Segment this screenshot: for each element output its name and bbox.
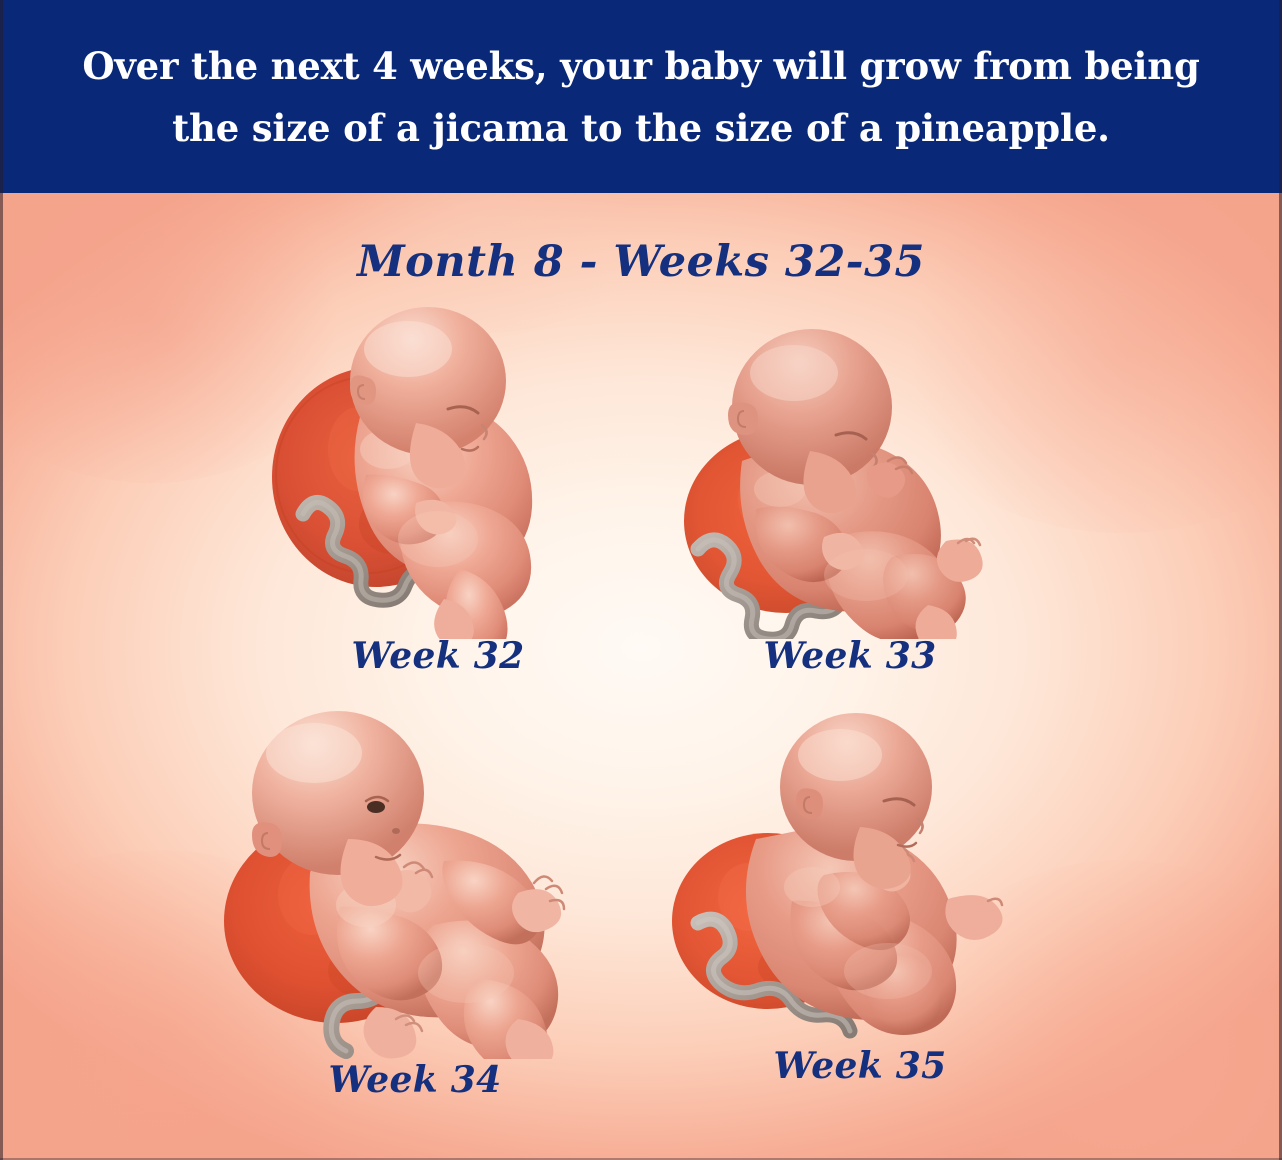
fetus-week-34-illustration xyxy=(200,689,630,1059)
illustration-wrapper: Week 32 xyxy=(248,299,628,749)
fetus-week-33-illustration xyxy=(660,299,1040,639)
infographic-page: Over the next 4 weeks, your baby will gr… xyxy=(0,0,1282,1160)
week-card-33: Week 33 xyxy=(660,299,1040,749)
left-edge-border xyxy=(0,0,3,1160)
fetus-week-32-illustration xyxy=(248,299,628,639)
week-card-34: Week 34 xyxy=(200,689,630,1159)
week-label-35: Week 35 xyxy=(660,1045,1060,1087)
illustration-wrapper: Week 35 xyxy=(660,709,1060,1159)
header-banner: Over the next 4 weeks, your baby will gr… xyxy=(0,0,1282,193)
weeks-grid: Week 32 xyxy=(0,289,1282,1149)
week-label-33: Week 33 xyxy=(660,635,1040,677)
week-label-32: Week 32 xyxy=(248,635,628,677)
illustration-wrapper: Week 33 xyxy=(660,299,1040,749)
week-card-32: Week 32 xyxy=(248,299,628,749)
header-line-2: the size of a jicama to the size of a pi… xyxy=(172,97,1110,159)
content-area: Month 8 - Weeks 32-35 xyxy=(0,193,1282,1160)
month-title: Month 8 - Weeks 32-35 xyxy=(0,237,1282,287)
week-label-34: Week 34 xyxy=(200,1059,630,1101)
week-card-35: Week 35 xyxy=(660,709,1060,1159)
fetus-week-35-illustration xyxy=(660,709,1060,1049)
header-line-1: Over the next 4 weeks, your baby will gr… xyxy=(82,35,1199,97)
illustration-wrapper: Week 34 xyxy=(200,689,630,1159)
